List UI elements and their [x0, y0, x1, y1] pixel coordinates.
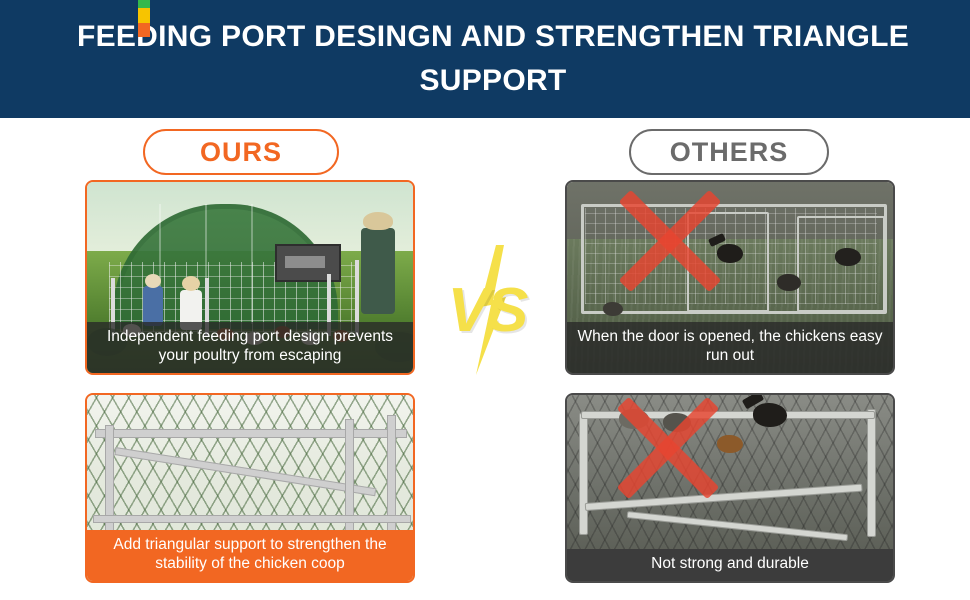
person-figure — [361, 228, 395, 314]
corner-post — [387, 415, 396, 543]
page-title: FEEDING PORT DESINGN AND STRENGTHEN TRIA… — [45, 15, 925, 104]
card-caption: When the door is opened, the chickens ea… — [567, 322, 893, 373]
label-ours: OURS — [143, 129, 339, 175]
accent-bar-icon — [138, 0, 150, 38]
rooster — [753, 403, 787, 427]
nesting-hut — [275, 244, 341, 282]
comparison-infographic: FEEDING PORT DESINGN AND STRENGTHEN TRIA… — [0, 0, 970, 600]
accent-segment-orange — [138, 23, 150, 38]
chicken — [777, 274, 801, 291]
top-rail — [95, 429, 407, 438]
card-others-top: When the door is opened, the chickens ea… — [565, 180, 895, 375]
chicken — [619, 409, 649, 429]
card-others-bottom: Not strong and durable — [565, 393, 895, 583]
accent-segment-yellow — [138, 8, 150, 23]
card-caption: Add triangular support to strengthen the… — [87, 530, 413, 581]
chicken — [835, 248, 861, 266]
label-others: OTHERS — [629, 129, 829, 175]
card-ours-bottom: Add triangular support to strengthen the… — [85, 393, 415, 583]
pen-post — [867, 409, 876, 537]
bottom-rail — [93, 515, 411, 523]
person-hat — [363, 212, 393, 230]
pen-post — [579, 413, 588, 535]
vs-label: VS — [432, 275, 542, 346]
person-head — [145, 274, 161, 288]
chicken — [663, 413, 691, 432]
card-caption: Independent feeding port design prevents… — [87, 322, 413, 373]
person-figure — [143, 286, 163, 326]
accent-segment-green — [138, 0, 150, 8]
chicken — [603, 302, 623, 316]
vs-badge: VS — [432, 245, 542, 375]
chicken — [717, 244, 743, 263]
card-caption: Not strong and durable — [567, 549, 893, 581]
chicken — [717, 435, 743, 453]
header-inner: FEEDING PORT DESINGN AND STRENGTHEN TRIA… — [45, 15, 925, 104]
header-banner: FEEDING PORT DESINGN AND STRENGTHEN TRIA… — [0, 0, 970, 118]
card-ours-top: Independent feeding port design prevents… — [85, 180, 415, 375]
person-head — [182, 276, 200, 291]
